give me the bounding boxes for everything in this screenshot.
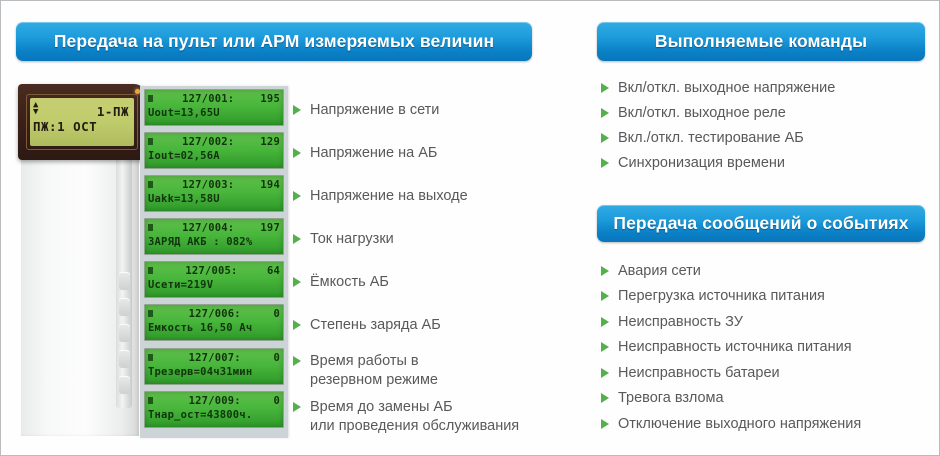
infographic-page: Передача на пульт или АРМ измеряемых вел… (0, 0, 940, 456)
event-item: Перегрузка источника питания (601, 284, 931, 310)
event-item: Неисправность источника питания (601, 335, 931, 361)
measured-values-label-list: Напряжение в сетиНапряжение на АБНапряже… (293, 86, 581, 438)
measured-value-label: Время до замены АБили проведения обслужи… (301, 398, 519, 436)
lcd-register-id: 127/003: (182, 178, 234, 192)
measured-value-label: Степень заряда АБ (301, 316, 441, 335)
bullet-arrow-icon (601, 419, 609, 429)
arrow-down-icon: ▼ (33, 109, 42, 116)
event-label: Неисправность источника питания (609, 339, 852, 355)
lcd-readout: 127/004:197ЗАРЯД АКБ : 082% (144, 218, 284, 255)
bullet-arrow-icon (601, 291, 609, 301)
lcd-register-id: 127/005: (185, 264, 237, 278)
bullet-arrow-icon (293, 148, 301, 158)
header-measured-values: Передача на пульт или АРМ измеряемых вел… (16, 22, 532, 61)
executable-commands-list: Вкл/откл. выходное напряжениеВкл/откл. в… (601, 75, 931, 175)
measured-value-label: Напряжение на выходе (301, 187, 468, 206)
lcd-measurement-text: ЗАРЯД АКБ : 082% (148, 235, 280, 250)
event-item: Неисправность ЗУ (601, 309, 931, 335)
lcd-status-marker-icon (148, 397, 153, 404)
device-lcd-screen: ▲ ▼ 1-ПЖ ПЖ:1 ОСТ (30, 98, 134, 146)
lcd-measurement-text: Емкость 16,50 Ач (148, 321, 280, 336)
lcd-register-id: 127/001: (182, 92, 234, 106)
lcd-register-value: 129 (260, 135, 280, 149)
lcd-readout: 127/002:129Iout=02,56A (144, 132, 284, 169)
device-screen-line-2: ПЖ:1 ОСТ (33, 119, 131, 134)
command-label: Синхронизация времени (609, 155, 785, 171)
measured-value-label: Ток нагрузки (301, 230, 394, 249)
lcd-top-row: 127/005:64 (148, 264, 280, 278)
measured-value-label: Время работы врезервном режиме (301, 352, 438, 390)
measured-value-label: Напряжение на АБ (301, 144, 437, 163)
lcd-register-id: 127/009: (189, 394, 241, 408)
bullet-arrow-icon (601, 266, 609, 276)
bullet-arrow-icon (601, 158, 609, 168)
header-executable-commands: Выполняемые команды (597, 22, 925, 61)
measured-value-item: Напряжение на АБ (293, 144, 437, 163)
lcd-top-row: 127/002:129 (148, 135, 280, 149)
bullet-arrow-icon (601, 317, 609, 327)
device-screen-frame: ▲ ▼ 1-ПЖ ПЖ:1 ОСТ (26, 94, 138, 150)
device-key-4 (119, 350, 130, 368)
lcd-status-marker-icon (148, 224, 153, 231)
lcd-measurement-text: Uсети=219V (148, 278, 280, 293)
measured-value-item: Время работы врезервном режиме (293, 352, 438, 390)
device-photo: ▲ ▼ 1-ПЖ ПЖ:1 ОСТ (18, 84, 150, 436)
bullet-arrow-icon (601, 342, 609, 352)
device-screen-line-1: 1-ПЖ (33, 104, 131, 119)
event-label: Неисправность батареи (609, 365, 780, 381)
measured-value-item: Степень заряда АБ (293, 316, 441, 335)
event-label: Авария сети (609, 263, 701, 279)
lcd-top-row: 127/007:0 (148, 351, 280, 365)
header-event-messages: Передача сообщений о событиях (597, 205, 925, 242)
bullet-arrow-icon (293, 191, 301, 201)
bullet-arrow-icon (293, 356, 301, 366)
lcd-readout: 127/006:0Емкость 16,50 Ач (144, 304, 284, 341)
lcd-register-value: 0 (273, 307, 280, 321)
lcd-readout: 127/007:0Трезерв=04ч31мин (144, 348, 284, 385)
bullet-arrow-icon (293, 277, 301, 287)
event-item: Неисправность батареи (601, 360, 931, 386)
updown-arrows-icon: ▲ ▼ (33, 102, 42, 118)
lcd-readout: 127/009:0Тнар_ост=43800ч. (144, 391, 284, 428)
event-label: Тревога взлома (609, 390, 724, 406)
bullet-arrow-icon (601, 83, 609, 93)
lcd-status-marker-icon (148, 181, 153, 188)
bullet-arrow-icon (293, 320, 301, 330)
measured-value-item: Ёмкость АБ (293, 273, 389, 292)
lcd-register-value: 194 (260, 178, 280, 192)
bullet-arrow-icon (601, 133, 609, 143)
lcd-measurement-text: Тнар_ост=43800ч. (148, 408, 280, 423)
lcd-top-row: 127/006:0 (148, 307, 280, 321)
event-item: Авария сети (601, 258, 931, 284)
lcd-readout: 127/001:195Uout=13,65U (144, 89, 284, 126)
device-key-2 (119, 298, 130, 316)
event-item: Отключение выходного напряжения (601, 411, 931, 437)
command-item: Вкл/откл. выходное реле (601, 100, 931, 125)
device-bezel: ▲ ▼ 1-ПЖ ПЖ:1 ОСТ (18, 84, 146, 160)
command-label: Вкл/откл. выходное напряжение (609, 80, 835, 96)
lcd-status-marker-icon (148, 138, 153, 145)
lcd-measurement-text: Uout=13,65U (148, 106, 280, 121)
lcd-readout-stack: 127/001:195Uout=13,65U127/002:129Iout=02… (140, 86, 288, 438)
bullet-arrow-icon (601, 393, 609, 403)
command-item: Вкл./откл. тестирование АБ (601, 125, 931, 150)
lcd-register-value: 197 (260, 221, 280, 235)
lcd-status-marker-icon (148, 95, 153, 102)
command-label: Вкл./откл. тестирование АБ (609, 130, 804, 146)
lcd-register-value: 64 (267, 264, 280, 278)
measured-value-item: Напряжение в сети (293, 101, 439, 120)
measured-value-item: Время до замены АБили проведения обслужи… (293, 398, 519, 436)
event-item: Тревога взлома (601, 386, 931, 412)
lcd-register-value: 0 (273, 351, 280, 365)
lcd-register-value: 195 (260, 92, 280, 106)
lcd-readout: 127/005:64Uсети=219V (144, 261, 284, 298)
lcd-measurement-text: Iout=02,56A (148, 149, 280, 164)
device-key-5 (119, 376, 130, 394)
bullet-arrow-icon (293, 402, 301, 412)
lcd-top-row: 127/001:195 (148, 92, 280, 106)
device-key-3 (119, 324, 130, 342)
lcd-register-id: 127/007: (189, 351, 241, 365)
device-key-1 (119, 272, 130, 290)
lcd-top-row: 127/009:0 (148, 394, 280, 408)
event-label: Неисправность ЗУ (609, 314, 743, 330)
lcd-status-marker-icon (148, 354, 153, 361)
bullet-arrow-icon (601, 108, 609, 118)
lcd-register-id: 127/004: (182, 221, 234, 235)
measured-value-label: Напряжение в сети (301, 101, 439, 120)
lcd-top-row: 127/004:197 (148, 221, 280, 235)
event-messages-list: Авария сетиПерегрузка источника питанияН… (601, 258, 931, 437)
command-item: Синхронизация времени (601, 150, 931, 175)
bullet-arrow-icon (293, 234, 301, 244)
measured-value-item: Напряжение на выходе (293, 187, 468, 206)
lcd-register-id: 127/002: (182, 135, 234, 149)
event-label: Отключение выходного напряжения (609, 416, 861, 432)
lcd-readout: 127/003:194Uakk=13,58U (144, 175, 284, 212)
lcd-status-marker-icon (148, 310, 153, 317)
lcd-register-id: 127/006: (189, 307, 241, 321)
bullet-arrow-icon (293, 105, 301, 115)
lcd-measurement-text: Uakk=13,58U (148, 192, 280, 207)
bullet-arrow-icon (601, 368, 609, 378)
lcd-measurement-text: Трезерв=04ч31мин (148, 365, 280, 380)
measured-value-label: Ёмкость АБ (301, 273, 389, 292)
command-label: Вкл/откл. выходное реле (609, 105, 786, 121)
command-item: Вкл/откл. выходное напряжение (601, 75, 931, 100)
lcd-register-value: 0 (273, 394, 280, 408)
lcd-top-row: 127/003:194 (148, 178, 280, 192)
event-label: Перегрузка источника питания (609, 288, 825, 304)
lcd-status-marker-icon (148, 267, 153, 274)
measured-value-item: Ток нагрузки (293, 230, 394, 249)
